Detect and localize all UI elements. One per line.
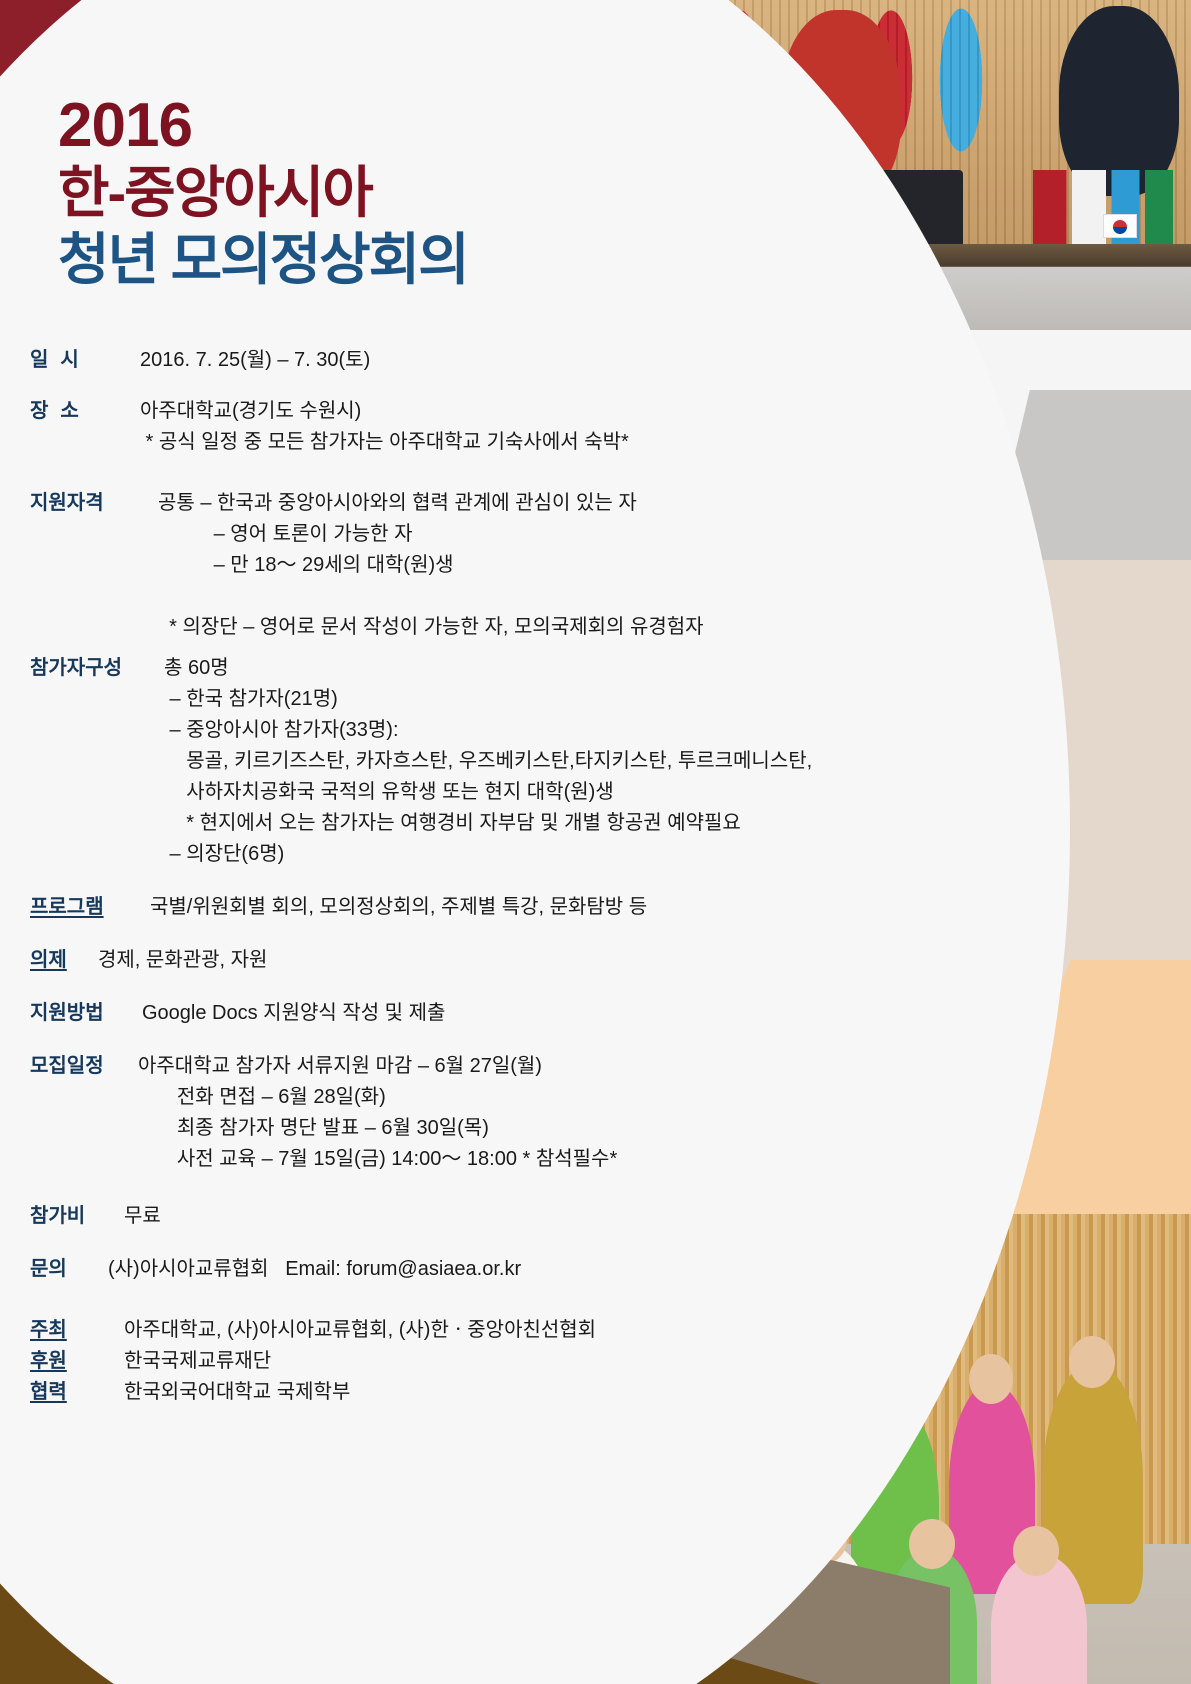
organizer-value: 한국외국어대학교 국제학부 bbox=[124, 1377, 350, 1408]
field-label: 문의 bbox=[30, 1254, 108, 1285]
info-row: 일시2016. 7. 25(월) – 7. 30(토) bbox=[30, 345, 1040, 376]
organizer-label: 후원 bbox=[30, 1346, 124, 1377]
info-row: 의제경제, 문화관광, 자원 bbox=[30, 945, 1040, 976]
organizer-label: 주최 bbox=[30, 1315, 124, 1346]
field-body: 국별/위원회별 회의, 모의정상회의, 주제별 특강, 문화탐방 등 bbox=[150, 892, 647, 923]
field-line: 전화 면접 – 6월 28일(화) bbox=[138, 1082, 617, 1113]
field-line: – 중앙아시아 참가자(33명): bbox=[164, 715, 812, 746]
organizer-row: 후원한국국제교류재단 bbox=[30, 1346, 1040, 1377]
title-line-3: 청년 모의정상회의 bbox=[58, 228, 468, 293]
field-line: * 현지에서 오는 참가자는 여행경비 자부담 및 개별 항공권 예약필요 bbox=[164, 808, 812, 839]
info-row: 지원방법Google Docs 지원양식 작성 및 제출 bbox=[30, 998, 1040, 1029]
field-line: 사하자치공화국 국적의 유학생 또는 현지 대학(원)생 bbox=[164, 777, 812, 808]
field-label: 지원방법 bbox=[30, 998, 142, 1029]
field-body: 경제, 문화관광, 자원 bbox=[98, 945, 267, 976]
head-5 bbox=[1069, 1336, 1115, 1388]
field-label: 의제 bbox=[30, 945, 98, 976]
organizer-value: 아주대학교, (사)아시아교류협회, (사)한ㆍ중앙아친선협회 bbox=[124, 1315, 596, 1346]
field-line: – 한국 참가자(21명) bbox=[164, 684, 812, 715]
field-body: (사)아시아교류협회 Email: forum@asiaea.or.kr bbox=[108, 1254, 521, 1285]
field-body: 2016. 7. 25(월) – 7. 30(토) bbox=[140, 345, 370, 376]
field-line: 아주대학교(경기도 수원시) bbox=[140, 396, 629, 427]
field-label: 일시 bbox=[30, 345, 140, 376]
organizer-value: 한국국제교류재단 bbox=[124, 1346, 271, 1377]
poster-title: 2016 한-중앙아시아 청년 모의정상회의 bbox=[58, 95, 468, 293]
field-body: 아주대학교(경기도 수원시) * 공식 일정 중 모든 참가자는 아주대학교 기… bbox=[140, 396, 629, 458]
field-body: Google Docs 지원양식 작성 및 제출 bbox=[142, 998, 445, 1029]
title-line-2: 한-중앙아시아 bbox=[58, 161, 468, 226]
organizer-label: 협력 bbox=[30, 1377, 124, 1408]
field-label: 지원자격 bbox=[30, 488, 158, 519]
field-line: * 의장단 – 영어로 문서 작성이 가능한 자, 모의국제회의 유경험자 bbox=[158, 612, 704, 643]
head-8 bbox=[909, 1519, 955, 1569]
info-fields: 일시2016. 7. 25(월) – 7. 30(토)장소아주대학교(경기도 수… bbox=[30, 345, 1040, 1408]
field-label: 장소 bbox=[30, 396, 140, 427]
korean-flag-icon bbox=[1103, 214, 1137, 238]
field-line: 경제, 문화관광, 자원 bbox=[98, 945, 267, 976]
field-line: Google Docs 지원양식 작성 및 제출 bbox=[142, 998, 445, 1029]
field-body: 아주대학교 참가자 서류지원 마감 – 6월 27일(월) 전화 면접 – 6월… bbox=[138, 1051, 617, 1175]
info-row: 참가자구성총 60명 – 한국 참가자(21명) – 중앙아시아 참가자(33명… bbox=[30, 653, 1040, 870]
field-body: 공통 – 한국과 중앙아시아와의 협력 관계에 관심이 있는 자 – 영어 토론… bbox=[158, 488, 704, 643]
field-label: 프로그램 bbox=[30, 892, 150, 923]
field-line: 사전 교육 – 7월 15일(금) 14:00～ 18:00 * 참석필수* bbox=[138, 1144, 617, 1175]
info-row: 지원자격공통 – 한국과 중앙아시아와의 협력 관계에 관심이 있는 자 – 영… bbox=[30, 488, 1040, 643]
field-label: 모집일정 bbox=[30, 1051, 138, 1082]
field-line: 공통 – 한국과 중앙아시아와의 협력 관계에 관심이 있는 자 bbox=[158, 488, 704, 519]
info-row: 장소아주대학교(경기도 수원시) * 공식 일정 중 모든 참가자는 아주대학교… bbox=[30, 396, 1040, 458]
field-body: 무료 bbox=[124, 1201, 161, 1232]
person-4 bbox=[1059, 6, 1179, 196]
field-line: 국별/위원회별 회의, 모의정상회의, 주제별 특강, 문화탐방 등 bbox=[150, 892, 647, 923]
field-line bbox=[158, 581, 704, 612]
field-line: 2016. 7. 25(월) – 7. 30(토) bbox=[140, 345, 370, 376]
field-line: – 만 18～ 29세의 대학(원)생 bbox=[158, 550, 704, 581]
field-line: 몽골, 키르기즈스탄, 카자흐스탄, 우즈베키스탄,타지키스탄, 투르크메니스탄… bbox=[164, 746, 812, 777]
field-line: 아주대학교 참가자 서류지원 마감 – 6월 27일(월) bbox=[138, 1051, 617, 1082]
organizer-row: 협력한국외국어대학교 국제학부 bbox=[30, 1377, 1040, 1408]
field-label: 참가자구성 bbox=[30, 653, 164, 684]
field-line: 무료 bbox=[124, 1201, 161, 1232]
field-line: – 의장단(6명) bbox=[164, 839, 812, 870]
info-row: 모집일정아주대학교 참가자 서류지원 마감 – 6월 27일(월) 전화 면접 … bbox=[30, 1051, 1040, 1175]
field-line: (사)아시아교류협회 Email: forum@asiaea.or.kr bbox=[108, 1254, 521, 1285]
poster-root: CHAIRPERSON 2016 bbox=[0, 0, 1191, 1684]
field-label: 참가비 bbox=[30, 1201, 124, 1232]
organizer-row: 주최아주대학교, (사)아시아교류협회, (사)한ㆍ중앙아친선협회 bbox=[30, 1315, 1040, 1346]
field-body: 총 60명 – 한국 참가자(21명) – 중앙아시아 참가자(33명): 몽골… bbox=[164, 653, 812, 870]
title-year: 2016 bbox=[58, 95, 468, 157]
info-row: 참가비무료 bbox=[30, 1201, 1040, 1232]
field-line: 총 60명 bbox=[164, 653, 812, 684]
info-row: 프로그램국별/위원회별 회의, 모의정상회의, 주제별 특강, 문화탐방 등 bbox=[30, 892, 1040, 923]
field-line: * 공식 일정 중 모든 참가자는 아주대학교 기숙사에서 숙박* bbox=[140, 427, 629, 458]
head-9 bbox=[1013, 1526, 1059, 1576]
field-line: – 영어 토론이 가능한 자 bbox=[158, 519, 704, 550]
organizers-block: 주최아주대학교, (사)아시아교류협회, (사)한ㆍ중앙아친선협회후원한국국제교… bbox=[30, 1315, 1040, 1408]
field-line: 최종 참가자 명단 발표 – 6월 30일(목) bbox=[138, 1113, 617, 1144]
info-row: 문의(사)아시아교류협회 Email: forum@asiaea.or.kr bbox=[30, 1254, 1040, 1285]
